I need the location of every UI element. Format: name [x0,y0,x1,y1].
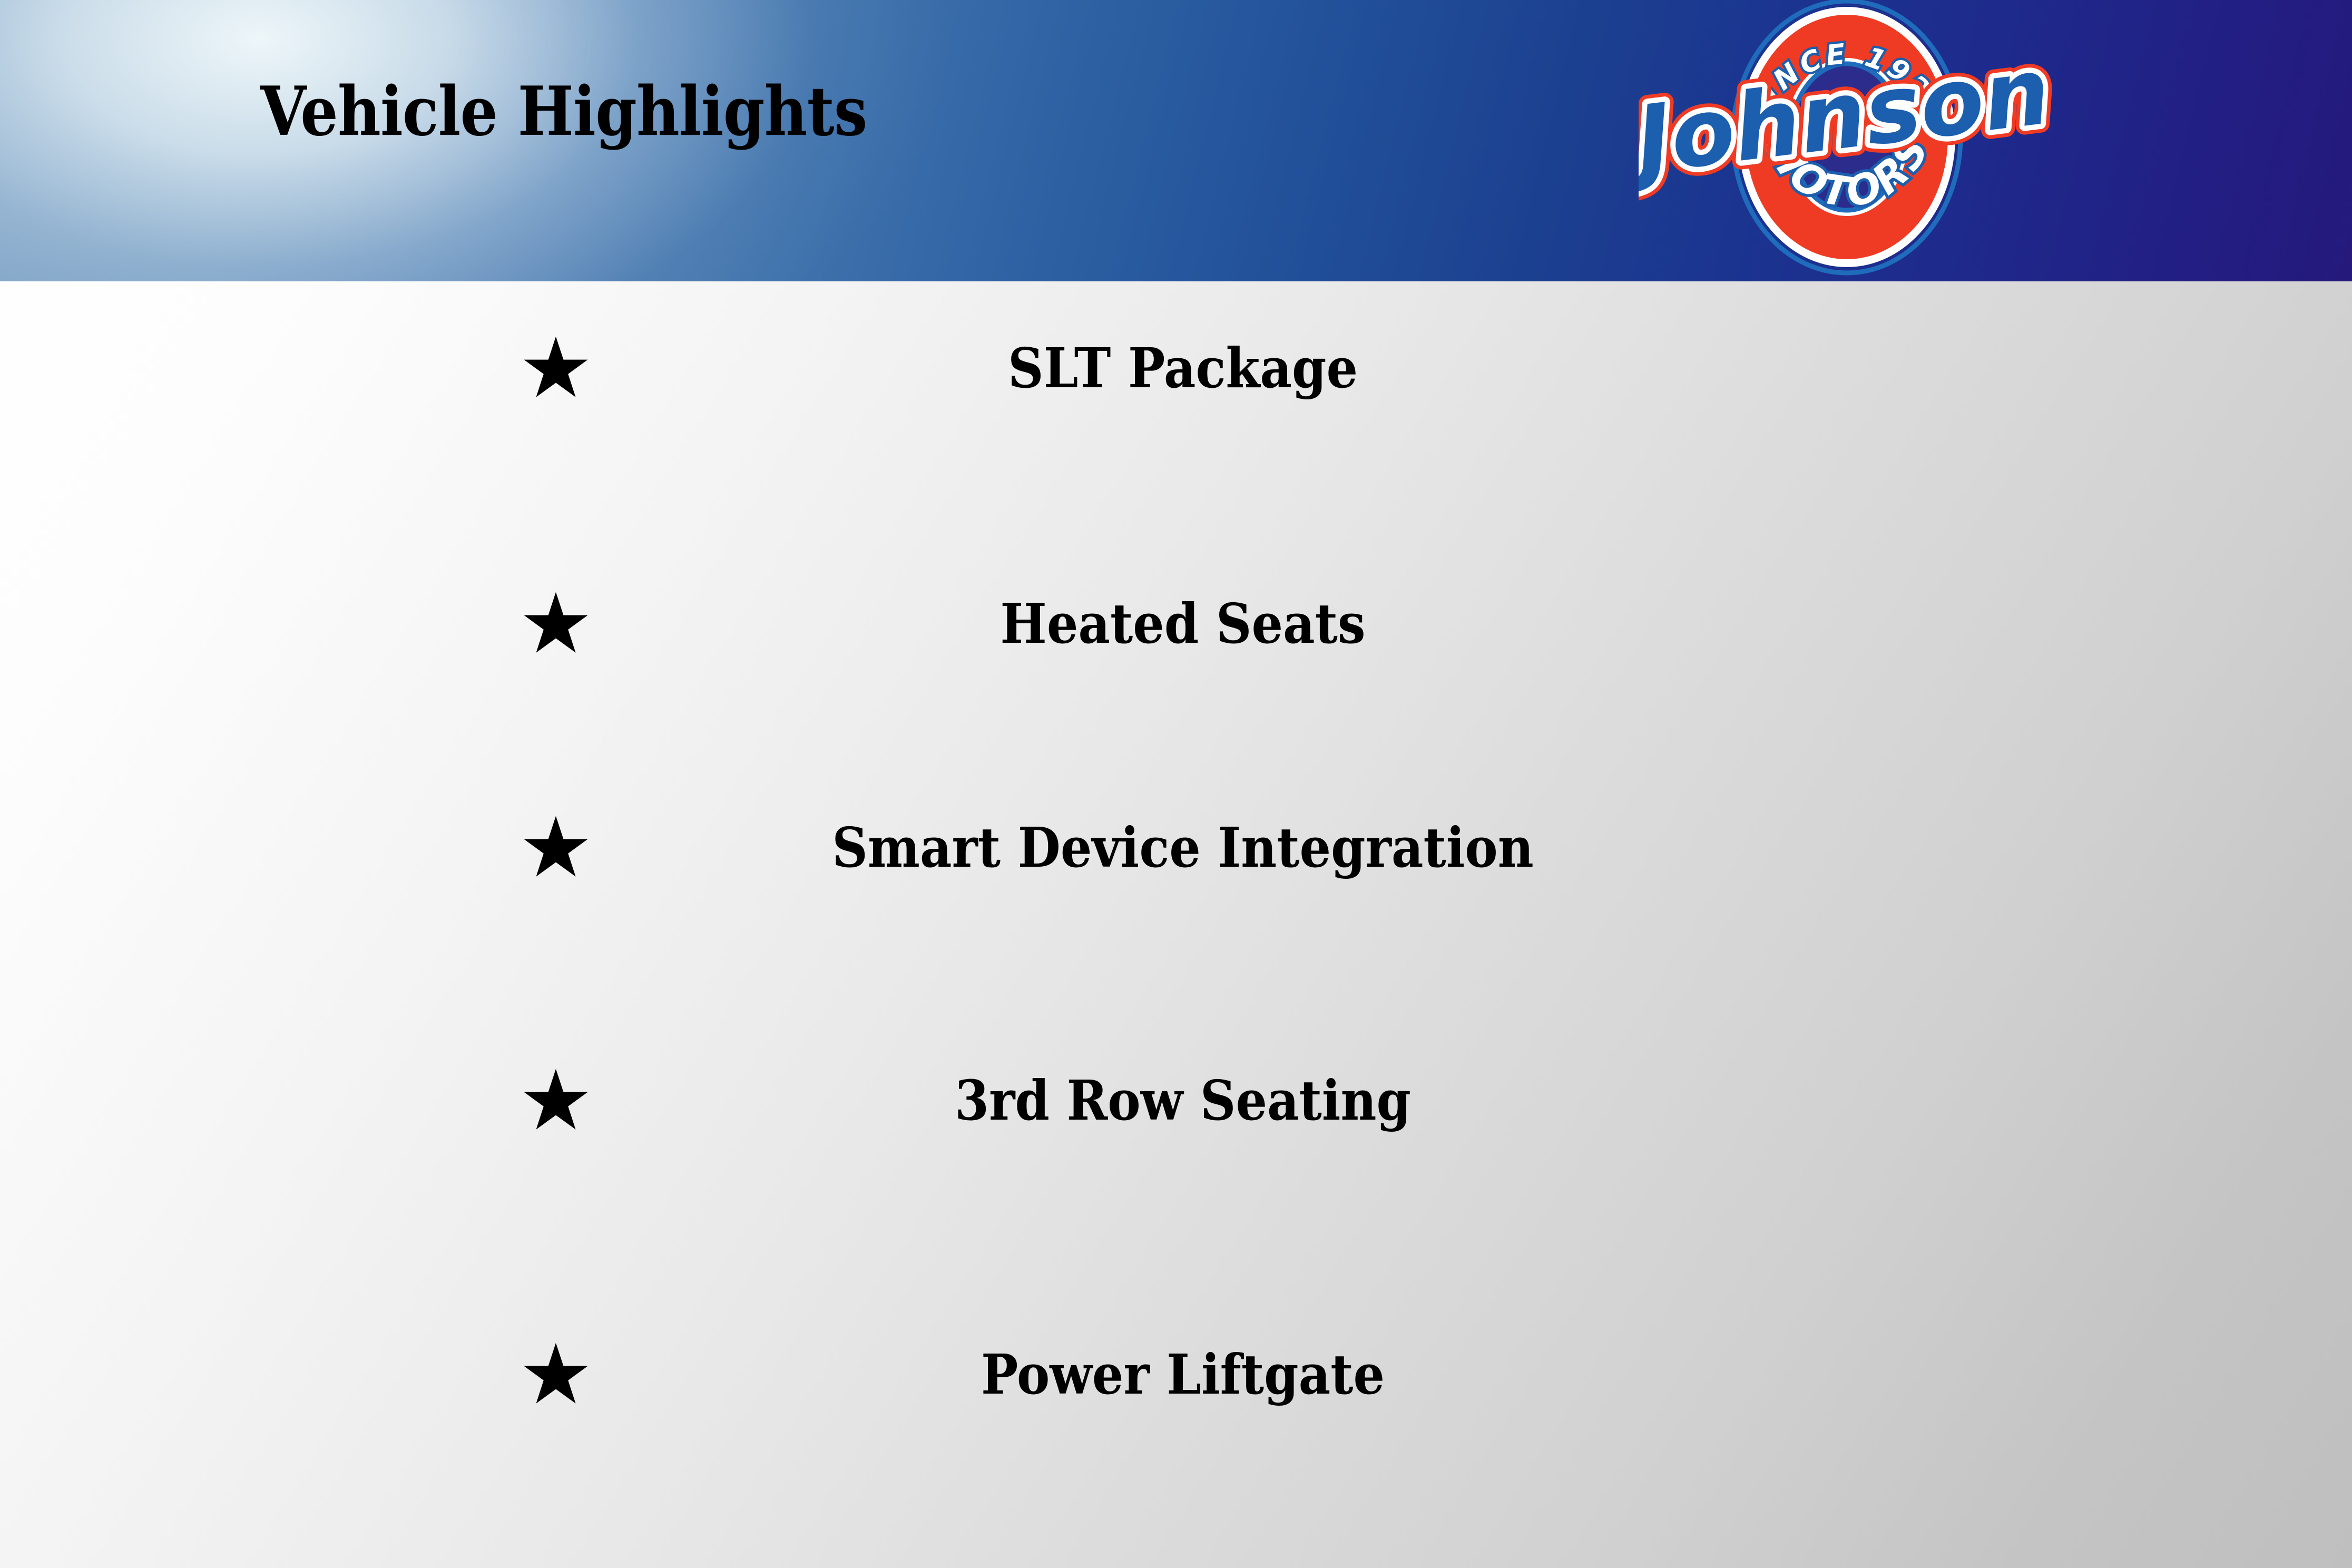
feature-label: SLT Package [709,324,1657,413]
star-icon: ★ [514,324,598,413]
list-item: ★ SLT Package [0,324,2352,413]
list-item: ★ 3rd Row Seating [0,1056,2352,1145]
johnson-motors-logo: SINCE 1925 SINCE 1925 MOTORS MOTORS John… [1639,0,2055,285]
feature-label: Smart Device Integration [709,803,1657,893]
feature-label: 3rd Row Seating [709,1056,1657,1145]
feature-label: Heated Seats [709,579,1657,669]
list-item: ★ Heated Seats [0,579,2352,669]
list-item: ★ Power Liftgate [0,1330,2352,1419]
star-icon: ★ [514,1056,598,1145]
feature-label: Power Liftgate [709,1330,1657,1419]
slide-root: Vehicle Highlights SINCE 1925 [0,0,2352,1568]
list-item: ★ Smart Device Integration [0,803,2352,893]
star-icon: ★ [514,1330,598,1419]
star-icon: ★ [514,803,598,893]
star-icon: ★ [514,579,598,669]
vehicle-highlights-list: ★ SLT Package ★ Heated Seats ★ Smart Dev… [0,281,2352,1568]
page-title: Vehicle Highlights [260,78,867,145]
